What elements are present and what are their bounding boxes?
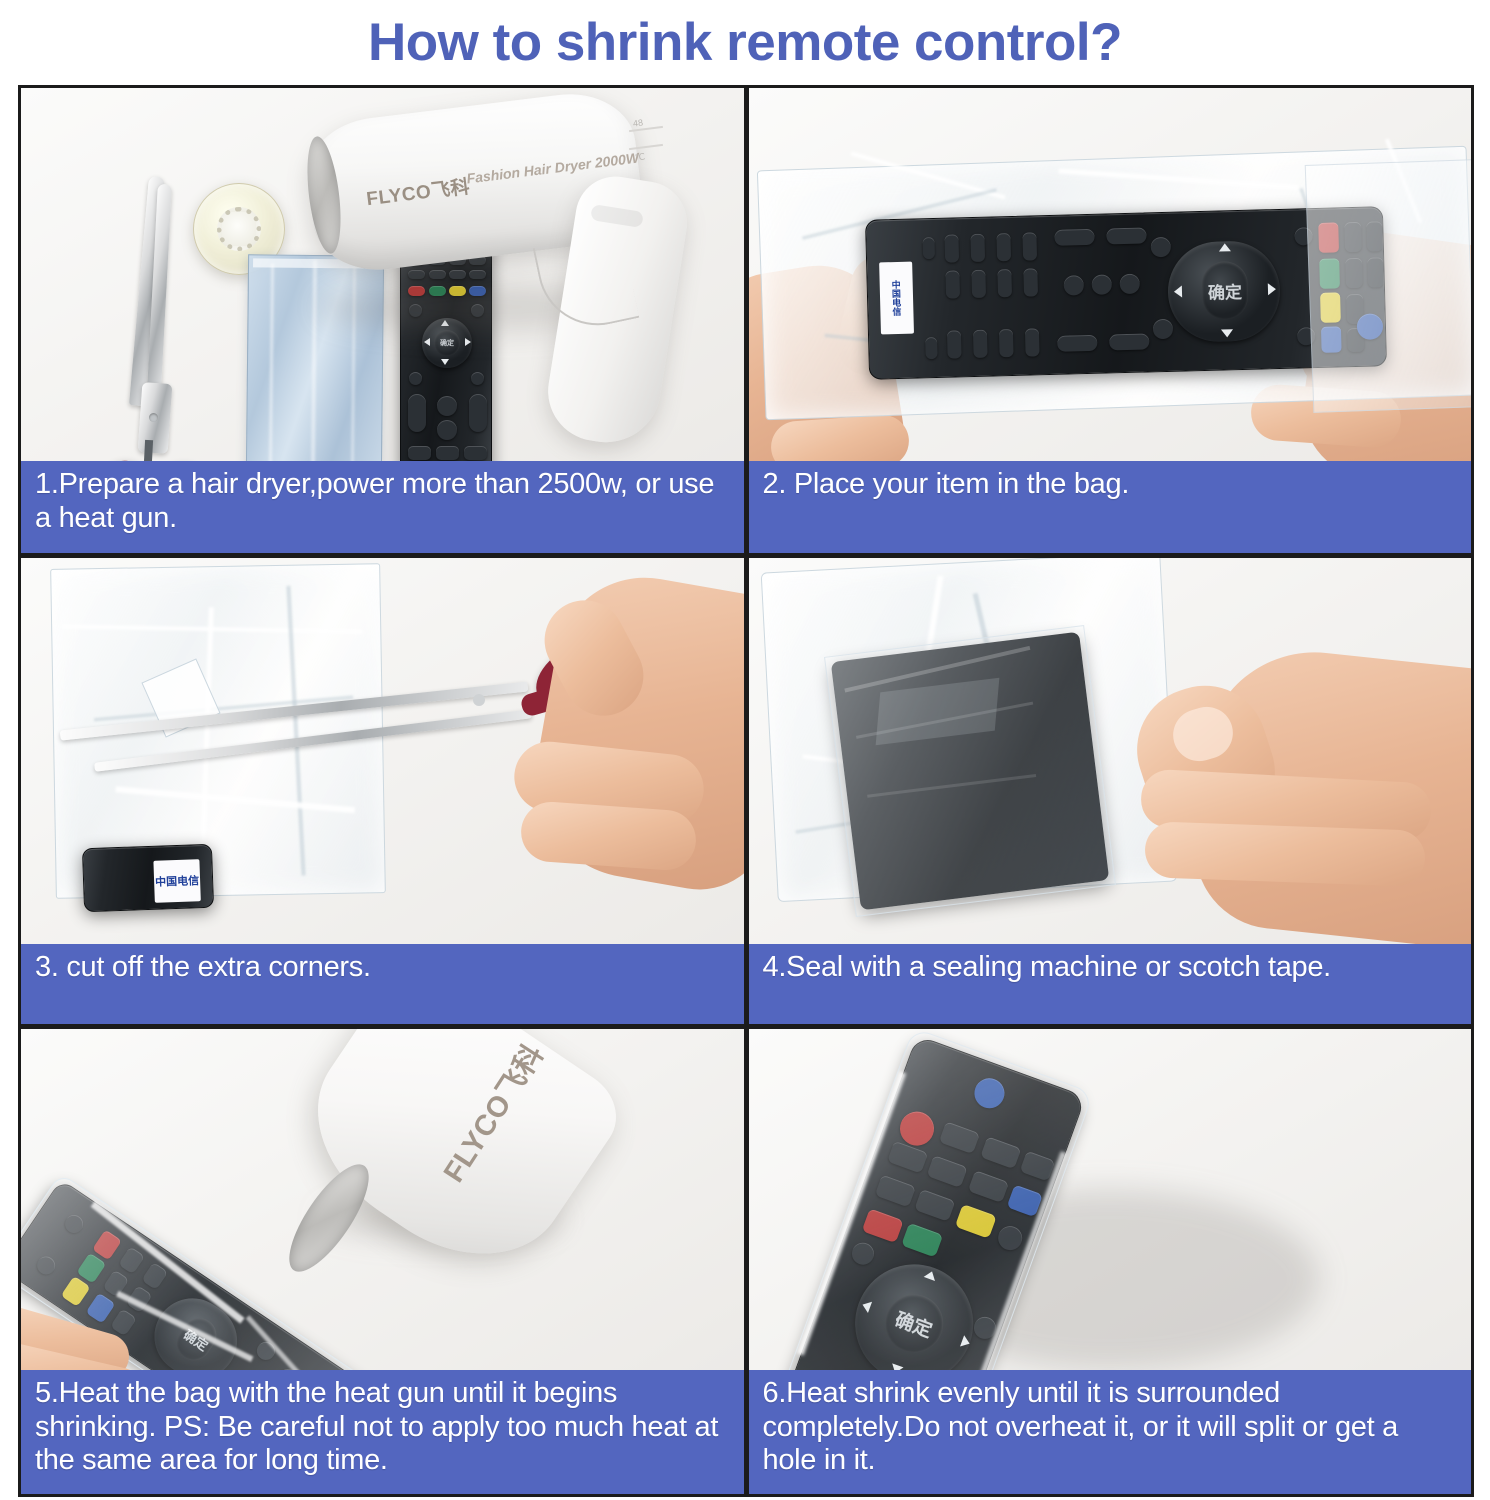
infographic-page: How to shrink remote control?	[0, 0, 1490, 1500]
step-panel-5: 确定	[21, 1029, 744, 1494]
page-title: How to shrink remote control?	[368, 12, 1122, 73]
step-panel-4: 4.Seal with a sealing machine or scotch …	[749, 558, 1472, 1023]
step-panel-2: 中国电信	[749, 88, 1472, 553]
sticker-brand: 中国电信	[889, 280, 903, 316]
step-panel-1: 确定	[21, 88, 744, 553]
step-1-caption: 1.Prepare a hair dryer,power more than 2…	[21, 461, 744, 553]
steps-grid: 确定	[18, 85, 1474, 1497]
shrink-bag	[246, 254, 384, 461]
page-title-bar: How to shrink remote control?	[0, 0, 1490, 85]
step-4-caption: 4.Seal with a sealing machine or scotch …	[749, 944, 1472, 1024]
step-1-photo: 确定	[21, 88, 744, 461]
remote-control: 中国电信	[864, 206, 1386, 380]
ok-button-label: 确定	[1207, 277, 1242, 303]
step-panel-6: 确定	[749, 1029, 1472, 1494]
step-4-photo	[749, 558, 1472, 943]
step-6-photo: 确定	[749, 1029, 1472, 1370]
china-telecom-sticker: 中国电信	[879, 262, 914, 335]
step-3-photo: 中国电信	[21, 558, 744, 943]
step-6-caption: 6.Heat shrink evenly until it is surroun…	[749, 1370, 1472, 1494]
remote-control: 中国电信	[82, 844, 214, 912]
step-panel-3: 中国电信 3. cut	[21, 558, 744, 1023]
step-3-caption: 3. cut off the extra corners.	[21, 944, 744, 1024]
step-2-caption: 2. Place your item in the bag.	[749, 461, 1472, 553]
step-5-caption: 5.Heat the bag with the heat gun until i…	[21, 1370, 744, 1494]
step-2-photo: 中国电信	[749, 88, 1472, 461]
step-5-photo: 确定	[21, 1029, 744, 1370]
